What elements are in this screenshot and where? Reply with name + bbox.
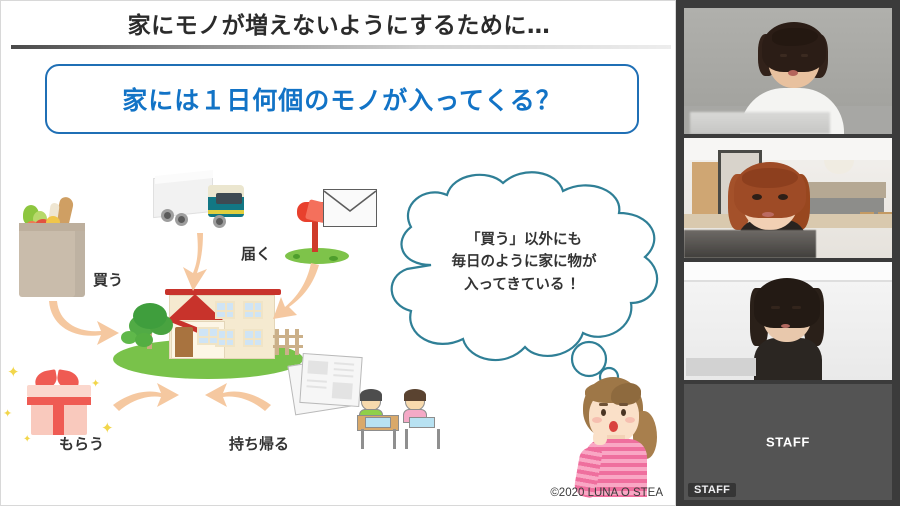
copyright-notice: ©2020 LUNA O STEA (550, 487, 663, 499)
envelope-icon (323, 189, 377, 227)
sparkle-icon: ✦ (7, 365, 20, 380)
participant-video-rail: STAFF STAFF (676, 0, 900, 506)
screen-share-meeting-view: 家にモノが増えないようにするために… 家には１日何個のモノが入ってくる？ 買う … (0, 0, 900, 506)
sparkle-icon: ✦ (91, 379, 100, 390)
slide-title: 家にモノが増えないようにするために… (1, 5, 676, 41)
school-desks-icon (357, 387, 449, 453)
participant-tile-1[interactable] (684, 8, 892, 134)
house-icon (113, 269, 303, 385)
participant-placeholder-name: STAFF (684, 435, 892, 450)
sparkle-icon: ✦ (3, 409, 12, 420)
sparkle-icon: ✦ (23, 435, 31, 445)
grocery-bag-icon (13, 197, 91, 297)
participant-video-3 (684, 262, 892, 380)
thought-line-2: 毎日のように家に物が (411, 251, 637, 273)
label-receive: もらう (59, 433, 104, 454)
slide-title-text: 家にモノが増えないようにするために… (128, 6, 551, 40)
participant-video-1 (684, 8, 892, 134)
participant-video-2 (684, 138, 892, 258)
participant-tile-4[interactable]: STAFF STAFF (684, 384, 892, 500)
participant-name-badge: STAFF (688, 483, 736, 497)
question-text: 家には１日何個のモノが入ってくる？ (122, 81, 562, 117)
title-divider (11, 45, 671, 49)
question-callout-box: 家には１日何個のモノが入ってくる？ (45, 64, 639, 134)
label-bring-home: 持ち帰る (229, 433, 289, 454)
participant-tile-2[interactable] (684, 138, 892, 258)
gift-box-icon (17, 367, 97, 439)
thinking-girl-illustration (567, 373, 663, 497)
label-deliver: 届く (241, 243, 271, 264)
participant-tile-3[interactable] (684, 262, 892, 380)
thought-bubble-text: 「買う」以外にも 毎日のように家に物が 入ってきている ！ (411, 229, 637, 296)
thought-line-3: 入ってきている ！ (411, 274, 637, 296)
shared-slide: 家にモノが増えないようにするために… 家には１日何個のモノが入ってくる？ 買う … (0, 0, 676, 506)
delivery-truck-icon (153, 173, 249, 235)
thought-bubble: 「買う」以外にも 毎日のように家に物が 入ってきている ！ (377, 169, 669, 381)
thought-line-1: 「買う」以外にも (411, 229, 637, 251)
newspapers-icon (291, 353, 365, 415)
